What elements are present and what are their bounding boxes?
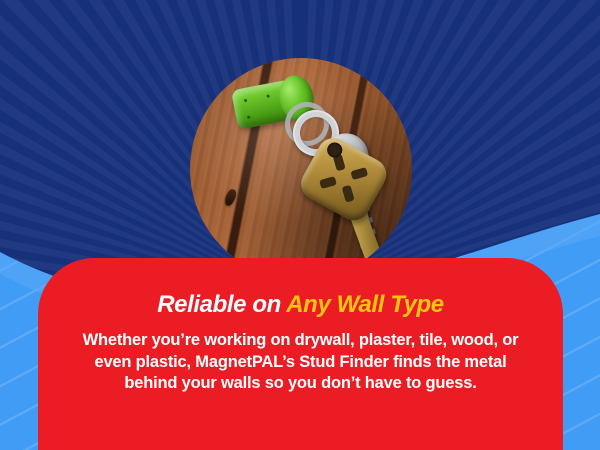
key-cutout bbox=[350, 167, 368, 180]
headline-white-part: Reliable on bbox=[157, 291, 281, 318]
headline: Reliable on Any Wall Type bbox=[72, 292, 529, 317]
headline-gold-part: Any Wall Type bbox=[286, 291, 444, 318]
magnet-dot bbox=[266, 94, 270, 98]
key-cutout bbox=[342, 185, 355, 203]
message-card: Reliable on Any Wall Type Whether you’re… bbox=[38, 258, 563, 450]
body-copy: Whether you’re working on drywall, plast… bbox=[72, 330, 529, 394]
magnet-dot bbox=[247, 115, 251, 119]
key-cutout bbox=[319, 176, 337, 189]
product-photo bbox=[190, 58, 412, 280]
promo-graphic: Reliable on Any Wall Type Whether you’re… bbox=[0, 0, 600, 450]
photo-inner bbox=[190, 58, 412, 280]
magnet-dot bbox=[244, 99, 248, 103]
